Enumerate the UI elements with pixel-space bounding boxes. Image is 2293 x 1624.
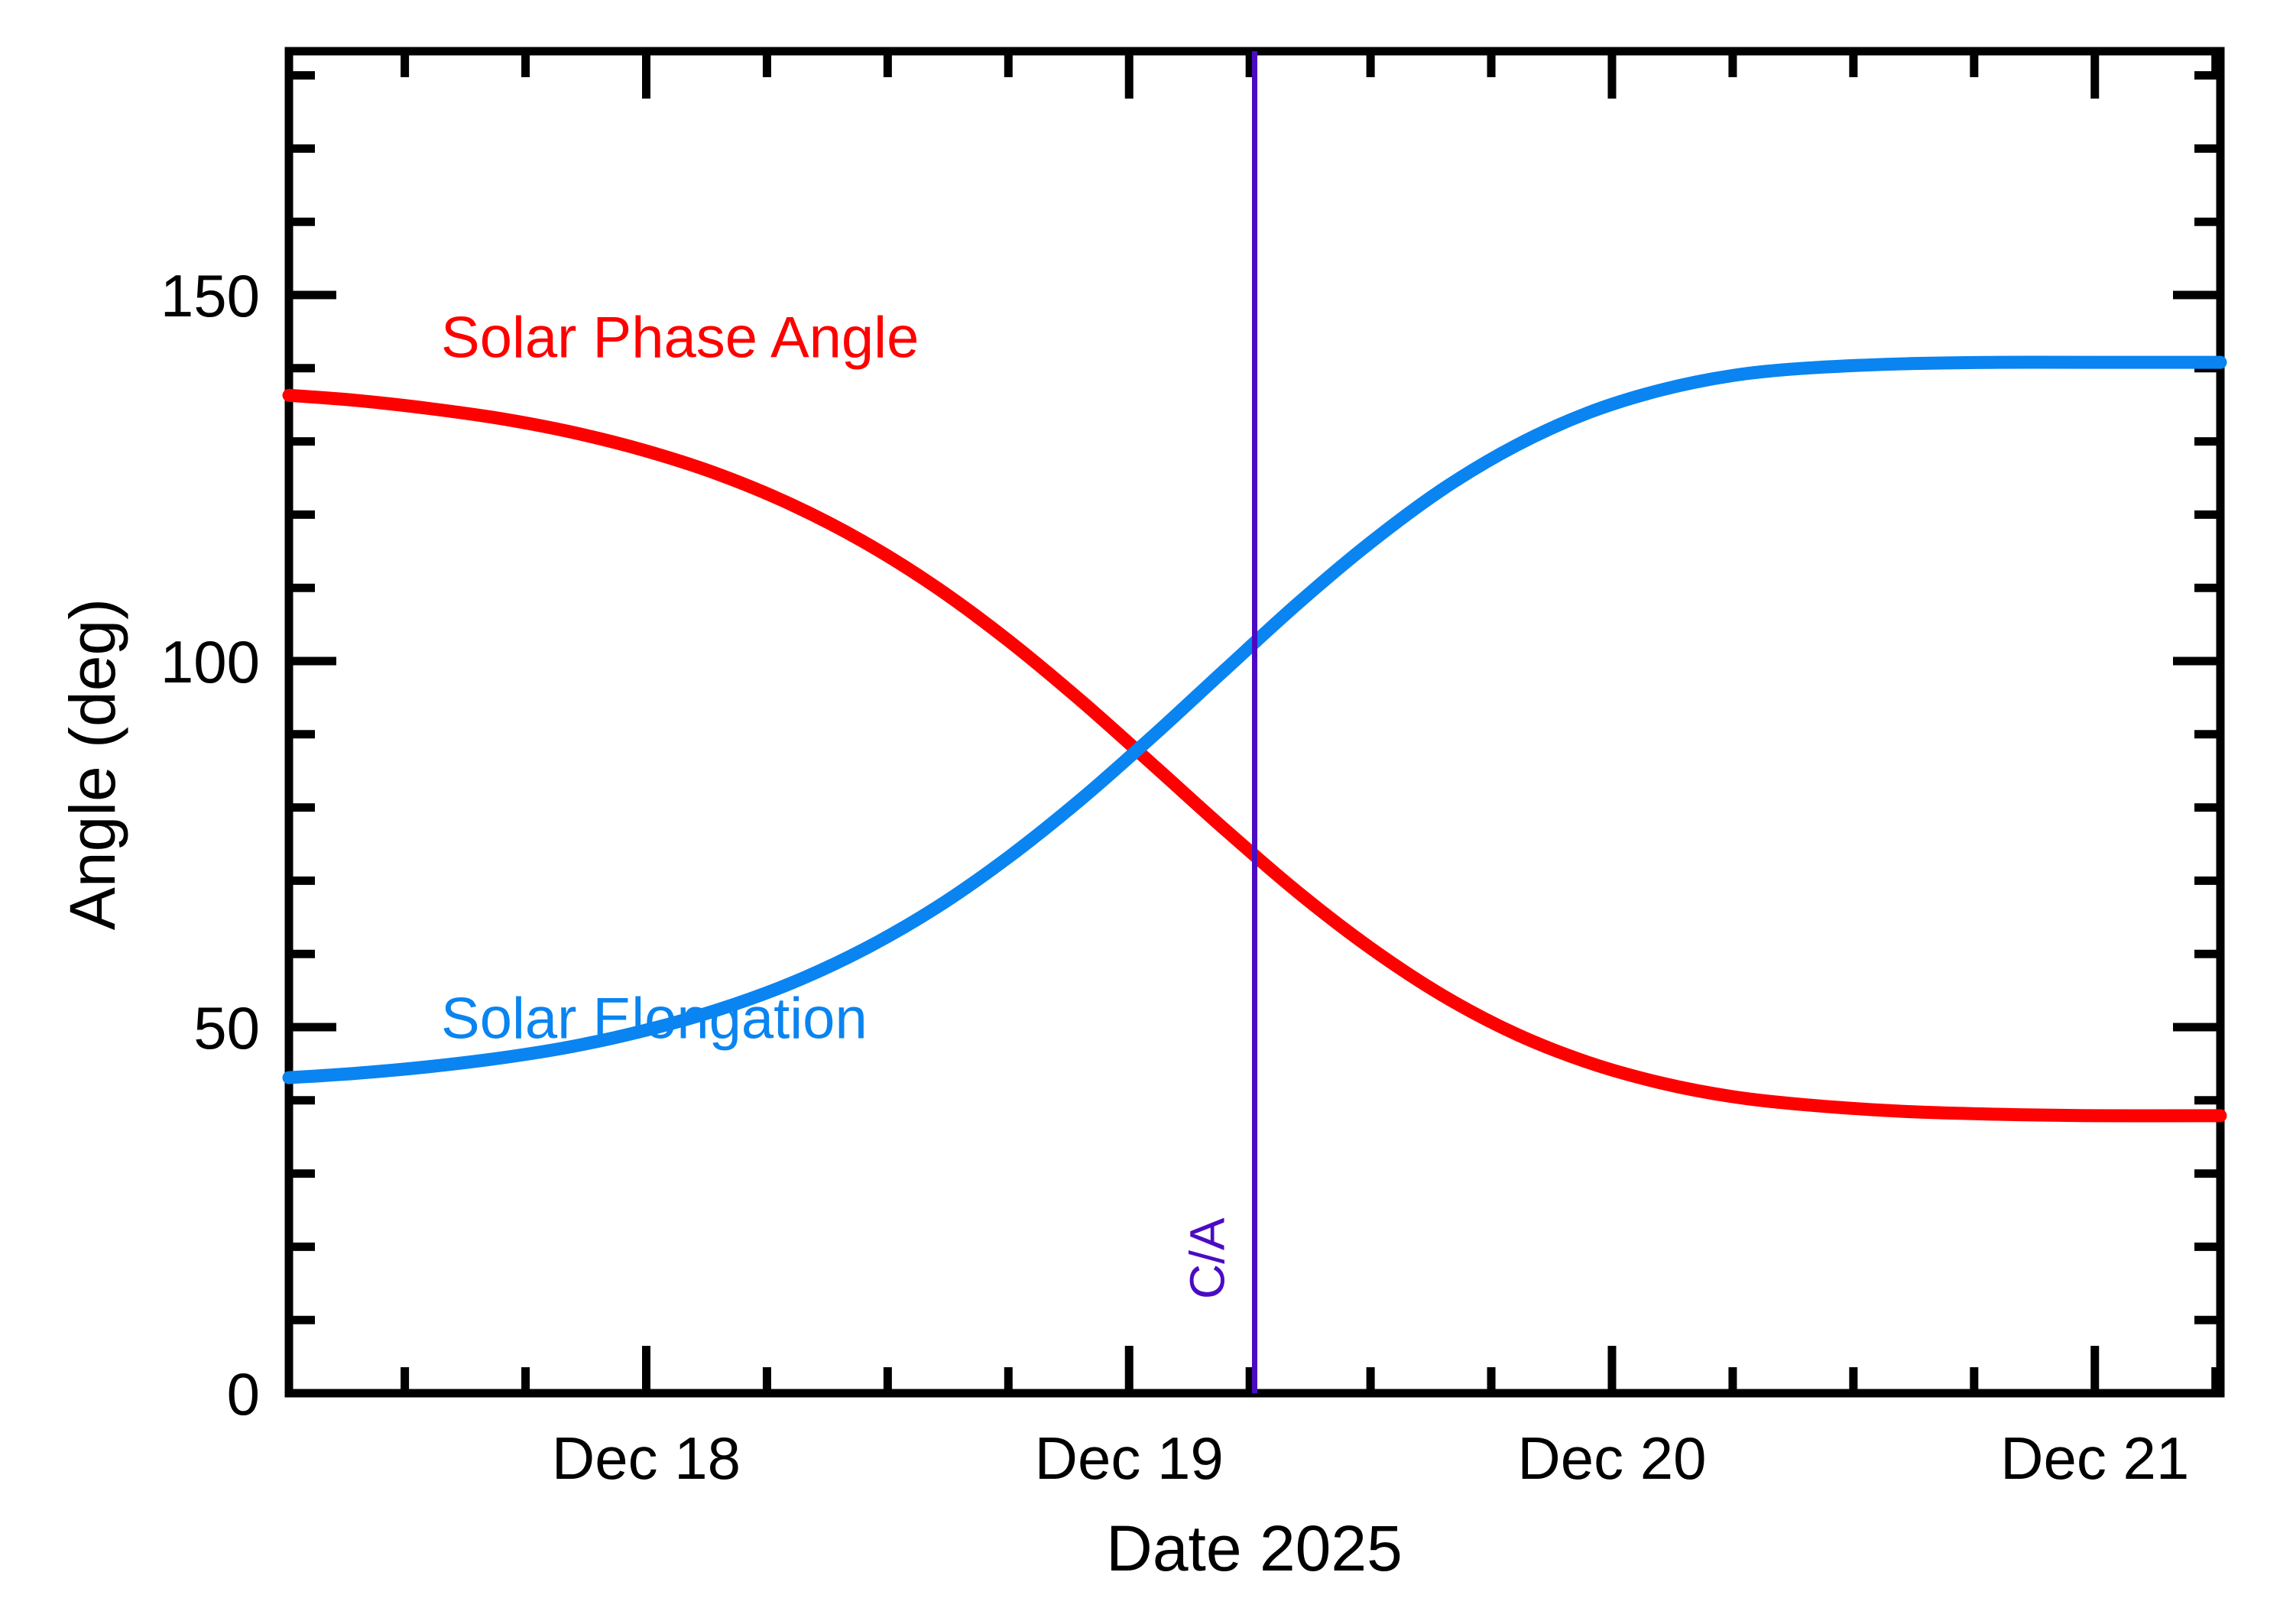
- y-axis-title: Angle (deg): [57, 598, 128, 930]
- x-axis-title: Date 2025: [1106, 1512, 1403, 1584]
- x-tick-label: Dec 18: [552, 1425, 741, 1492]
- x-tick-label: Dec 19: [1035, 1425, 1224, 1492]
- x-tick-label: Dec 20: [1517, 1425, 1706, 1492]
- y-tick-label: 150: [161, 262, 260, 329]
- y-tick-label: 0: [227, 1360, 260, 1428]
- y-tick-label: 100: [161, 628, 260, 695]
- series-label-solar-phase-angle: Solar Phase Angle: [441, 305, 919, 370]
- chart-page: 050100150 Dec 18Dec 19Dec 20Dec 21 C/A S…: [0, 0, 2293, 1624]
- series-label-solar-elongation: Solar Elongation: [441, 986, 868, 1051]
- ca-marker-label: C/A: [1180, 1217, 1235, 1299]
- chart-background: [0, 0, 2293, 1624]
- solar-geometry-line-chart: 050100150 Dec 18Dec 19Dec 20Dec 21 C/A S…: [0, 0, 2293, 1624]
- x-tick-label: Dec 21: [2000, 1425, 2189, 1492]
- y-tick-label: 50: [193, 994, 260, 1062]
